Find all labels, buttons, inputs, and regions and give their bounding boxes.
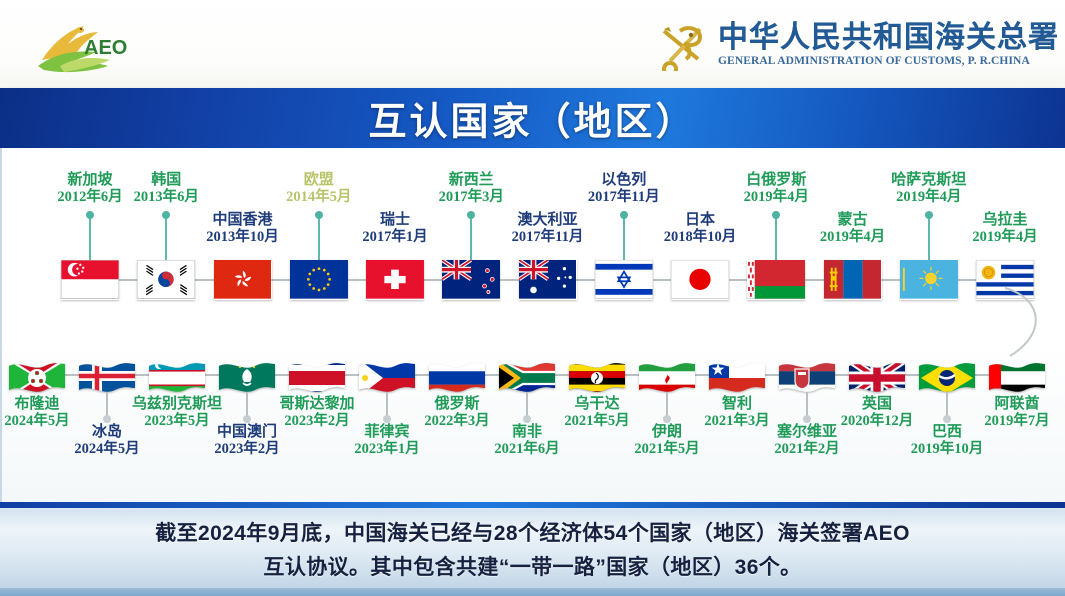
country-date: 2017年3月 <box>439 189 504 205</box>
uruguay-flag <box>976 260 1034 300</box>
country-date: 2013年6月 <box>134 189 199 205</box>
country-label: 韩国2013年6月 <box>134 172 199 205</box>
chile-flag <box>707 358 767 398</box>
country-label: 新加坡2012年6月 <box>57 172 122 205</box>
page-title: 互认国家（地区） <box>0 91 1065 146</box>
country-date: 2023年5月 <box>132 413 222 429</box>
country-name: 中国香港 <box>206 212 279 229</box>
country-date: 2019年4月 <box>891 189 966 205</box>
connector-stem <box>89 216 91 260</box>
country-date: 2017年11月 <box>588 189 660 205</box>
country-date: 2018年10月 <box>664 229 737 245</box>
country-date: 2019年4月 <box>820 229 885 245</box>
country-label: 瑞士2017年1月 <box>362 212 427 245</box>
belarus-flag <box>747 260 805 300</box>
country-date: 2019年4月 <box>744 189 809 205</box>
australia-flag <box>519 260 577 300</box>
country-label: 中国香港2013年10月 <box>206 212 279 245</box>
uganda-flag <box>567 358 627 398</box>
country-date: 2023年2月 <box>214 441 279 457</box>
connector-stem <box>775 216 777 260</box>
singapore-flag <box>61 260 119 300</box>
slide-root: AEO 中华人民共和国海关总署 GENERAL ADMINISTRATION O… <box>0 0 1065 596</box>
country-name: 韩国 <box>134 172 199 189</box>
country-date: 2014年5月 <box>286 189 351 205</box>
south-korea-flag <box>137 260 195 300</box>
uae-flag <box>987 358 1047 398</box>
country-label: 冰岛2024年5月 <box>74 424 139 457</box>
customs-name-en: GENERAL ADMINISTRATION OF CUSTOMS, P. R.… <box>718 55 1059 67</box>
country-name: 哈萨克斯坦 <box>891 172 966 189</box>
connector-stem <box>318 216 320 260</box>
footer-banner: 截至2024年9月底，中国海关已经与28个经济体54个国家（地区）海关签署AEO… <box>0 502 1065 596</box>
switzerland-flag <box>366 260 424 300</box>
european-union-flag <box>290 260 348 300</box>
russia-flag <box>427 358 487 398</box>
country-name: 中国澳门 <box>214 424 279 441</box>
country-label: 以色列2017年11月 <box>588 172 660 205</box>
united-kingdom-flag <box>847 358 907 398</box>
country-name: 瑞士 <box>362 212 427 229</box>
country-name: 新加坡 <box>57 172 122 189</box>
country-date: 2020年12月 <box>841 413 914 429</box>
country-name: 巴西 <box>911 424 984 441</box>
diagram-canvas: 新加坡2012年6月韩国2013年6月中国香港2013年10月欧盟2014年5月… <box>0 148 1065 502</box>
footer-line-2: 互认协议。其中包含共建“一带一路”国家（地区）36个。 <box>263 551 801 581</box>
country-label: 哈萨克斯坦2019年4月 <box>891 172 966 205</box>
country-name: 澳大利亚 <box>512 212 584 229</box>
connector-stem <box>106 392 108 418</box>
country-name: 乌兹别克斯坦 <box>132 396 222 413</box>
country-label: 澳大利亚2017年11月 <box>512 212 584 245</box>
country-name: 日本 <box>664 212 737 229</box>
mongolia-flag <box>824 260 882 300</box>
country-date: 2021年5月 <box>634 441 699 457</box>
customs-emblem-icon <box>658 19 710 71</box>
country-date: 2012年6月 <box>57 189 122 205</box>
country-name: 新西兰 <box>439 172 504 189</box>
country-label: 白俄罗斯2019年4月 <box>744 172 809 205</box>
connector-stem <box>666 392 668 418</box>
country-date: 2022年3月 <box>424 413 489 429</box>
customs-name-cn: 中华人民共和国海关总署 <box>718 23 1059 54</box>
aeo-logo: AEO <box>34 14 138 80</box>
hong-kong-flag <box>214 260 272 300</box>
title-banner: 互认国家（地区） <box>0 88 1065 148</box>
country-label: 乌兹别克斯坦2023年5月 <box>132 396 222 429</box>
country-label: 哥斯达黎加2023年2月 <box>279 396 354 429</box>
country-name: 欧盟 <box>286 172 351 189</box>
country-name: 蒙古 <box>820 212 885 229</box>
slide-header: AEO 中华人民共和国海关总署 GENERAL ADMINISTRATION O… <box>0 0 1065 88</box>
country-label: 智利2021年3月 <box>704 396 769 429</box>
country-date: 2013年10月 <box>206 229 279 245</box>
connector-stem <box>623 216 625 260</box>
country-date: 2021年6月 <box>494 441 559 457</box>
footer-line-1: 截至2024年9月底，中国海关已经与28个经济体54个国家（地区）海关签署AEO <box>155 517 910 547</box>
country-date: 2019年7月 <box>984 413 1049 429</box>
israel-flag <box>595 260 653 300</box>
country-date: 2017年1月 <box>362 229 427 245</box>
country-date: 2023年1月 <box>354 441 419 457</box>
uzbekistan-flag <box>147 358 207 398</box>
country-name: 哥斯达黎加 <box>279 396 354 413</box>
country-name: 英国 <box>841 396 914 413</box>
country-date: 2019年4月 <box>972 229 1037 245</box>
country-label: 布隆迪2024年5月 <box>4 396 69 429</box>
connector-stem <box>470 216 472 260</box>
country-label: 伊朗2021年5月 <box>634 424 699 457</box>
country-label: 蒙古2019年4月 <box>820 212 885 245</box>
country-name: 乌干达 <box>564 396 629 413</box>
kazakhstan-flag <box>900 260 958 300</box>
connector-stem <box>165 216 167 260</box>
japan-flag <box>671 260 729 300</box>
country-date: 2021年2月 <box>774 441 839 457</box>
country-date: 2024年5月 <box>74 441 139 457</box>
svg-text:AEO: AEO <box>84 37 127 59</box>
country-name: 布隆迪 <box>4 396 69 413</box>
country-label: 巴西2019年10月 <box>911 424 984 457</box>
country-label: 塞尔维亚2021年2月 <box>774 424 839 457</box>
connector-stem <box>246 392 248 418</box>
country-date: 2019年10月 <box>911 441 984 457</box>
country-label: 乌干达2021年5月 <box>564 396 629 429</box>
country-date: 2023年2月 <box>279 413 354 429</box>
country-date: 2024年5月 <box>4 413 69 429</box>
customs-logo-group: 中华人民共和国海关总署 GENERAL ADMINISTRATION OF CU… <box>658 14 1059 76</box>
country-name: 伊朗 <box>634 424 699 441</box>
costa-rica-flag <box>287 358 347 398</box>
country-name: 俄罗斯 <box>424 396 489 413</box>
country-name: 白俄罗斯 <box>744 172 809 189</box>
connector-stem <box>526 392 528 418</box>
country-label: 日本2018年10月 <box>664 212 737 245</box>
footer-top-edge <box>0 502 1065 508</box>
country-label: 乌拉圭2019年4月 <box>972 212 1037 245</box>
new-zealand-flag <box>442 260 500 300</box>
country-name: 智利 <box>704 396 769 413</box>
country-label: 菲律宾2023年1月 <box>354 424 419 457</box>
country-label: 新西兰2017年3月 <box>439 172 504 205</box>
country-label: 英国2020年12月 <box>841 396 914 429</box>
country-name: 冰岛 <box>74 424 139 441</box>
country-label: 南非2021年6月 <box>494 424 559 457</box>
country-label: 欧盟2014年5月 <box>286 172 351 205</box>
country-name: 以色列 <box>588 172 660 189</box>
country-name: 南非 <box>494 424 559 441</box>
connector-stem <box>946 392 948 418</box>
country-date: 2017年11月 <box>512 229 584 245</box>
country-date: 2021年5月 <box>564 413 629 429</box>
country-name: 菲律宾 <box>354 424 419 441</box>
country-name: 塞尔维亚 <box>774 424 839 441</box>
country-name: 阿联酋 <box>984 396 1049 413</box>
connector-stem <box>386 392 388 418</box>
country-date: 2021年3月 <box>704 413 769 429</box>
burundi-flag <box>7 358 67 398</box>
country-name: 乌拉圭 <box>972 212 1037 229</box>
country-label: 俄罗斯2022年3月 <box>424 396 489 429</box>
country-label: 中国澳门2023年2月 <box>214 424 279 457</box>
connector-stem <box>806 392 808 418</box>
country-label: 阿联酋2019年7月 <box>984 396 1049 429</box>
connector-stem <box>928 216 930 260</box>
